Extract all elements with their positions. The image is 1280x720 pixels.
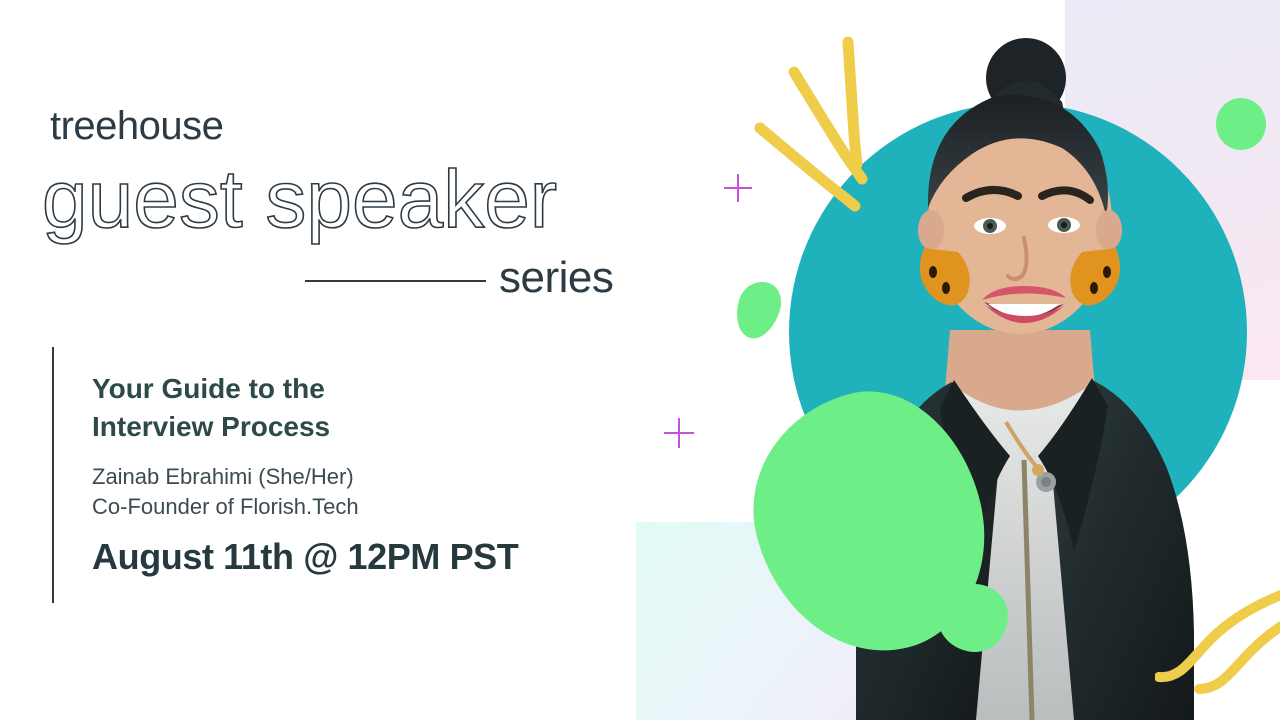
talk-title-line-1: Your Guide to the [92,370,522,408]
green-blob-shape-small [938,584,1008,652]
text-column: treehouse guest speaker series Your Guid… [0,0,660,720]
magenta-plus-icon-2 [664,418,694,448]
vertical-accent-rule [52,347,54,603]
page-title: guest speaker [42,158,557,242]
series-label: series [499,256,613,300]
brand-name: treehouse [50,106,223,146]
event-datetime: August 11th @ 12PM PST [92,535,518,578]
talk-title-line-2: Interview Process [92,408,522,446]
green-blob-shape-left [729,276,787,344]
speaker-role: Co-Founder of Florish.Tech [92,492,359,522]
talk-title: Your Guide to the Interview Process [92,370,522,447]
magenta-plus-icon-1 [724,174,752,202]
yellow-squiggle-strokes [1155,585,1280,720]
series-divider-rule [305,280,486,282]
speaker-name: Zainab Ebrahimi (She/Her) [92,462,354,492]
slide-canvas: treehouse guest speaker series Your Guid… [0,0,1280,720]
